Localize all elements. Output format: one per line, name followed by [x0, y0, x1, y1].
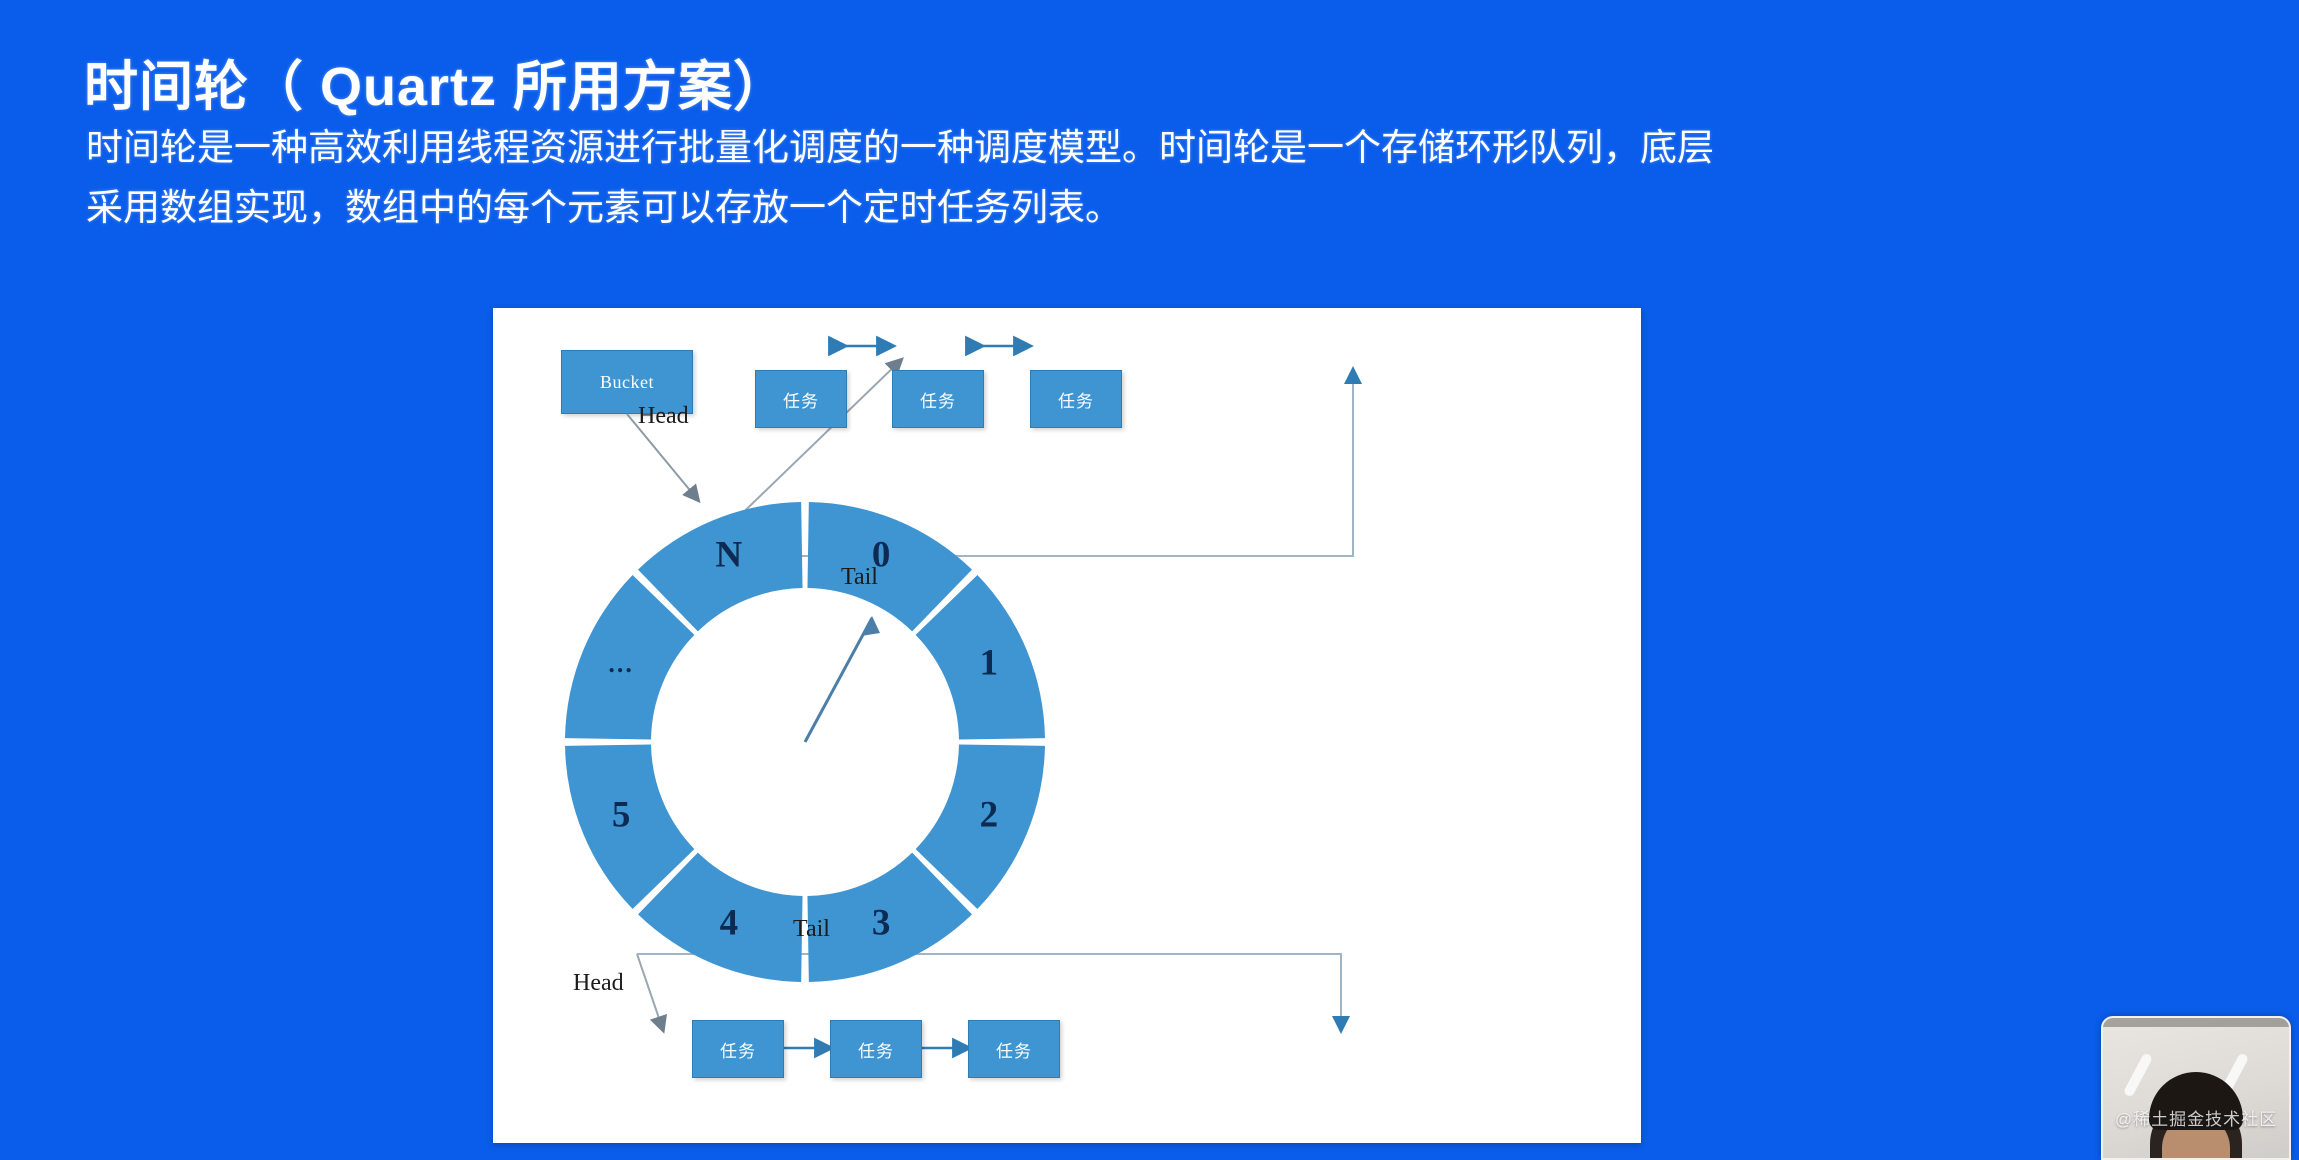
clock-hand [805, 618, 872, 742]
clock-hand-arrowhead [861, 616, 880, 636]
task-label: 任务 [783, 387, 819, 412]
top-task-box-1: 任务 [755, 370, 847, 428]
task-label: 任务 [996, 1037, 1032, 1062]
webcam-pip[interactable]: @稀土掘金技术社区 [2101, 1016, 2291, 1160]
webcam-glare-left-icon [2123, 1052, 2153, 1097]
paragraph-line-1: 时间轮是一种高效利用线程资源进行批量化调度的一种调度模型。时间轮是一个存储环形队… [86, 118, 2206, 178]
task-label: 任务 [920, 387, 956, 412]
ring-segment-label: 5 [612, 795, 631, 836]
top-head-label: Head [638, 403, 689, 430]
ring-segment-label: N [715, 535, 742, 576]
top-task-box-2: 任务 [892, 370, 984, 428]
top-tail-label: Tail [841, 564, 878, 591]
bottom-task-box-2: 任务 [830, 1020, 922, 1078]
watermark: @稀土掘金技术社区 [2103, 1105, 2289, 1130]
diagram-panel: Bucket [493, 308, 1641, 1143]
bottom-task-box-1: 任务 [692, 1020, 784, 1078]
presentation-slide: 时间轮（ Quartz 所用方案） 时间轮是一种高效利用线程资源进行批量化调度的… [0, 0, 2299, 1160]
bottom-tail-label: Tail [793, 916, 830, 943]
top-task-box-3: 任务 [1030, 370, 1122, 428]
ring-segment-label: 1 [980, 642, 999, 683]
webcam-top-strip [2103, 1018, 2289, 1027]
bottom-task-box-3: 任务 [968, 1020, 1060, 1078]
paragraph-line-2: 采用数组实现，数组中的每个元素可以存放一个定时任务列表。 [86, 178, 2206, 238]
ring-segment-label: 2 [980, 795, 999, 836]
ring-segment-label: 3 [872, 902, 891, 943]
task-label: 任务 [1058, 387, 1094, 412]
task-label: 任务 [720, 1037, 756, 1062]
bottom-head-label: Head [573, 970, 624, 997]
ring-segment-label: ... [608, 649, 634, 678]
ring-segment-label: 4 [720, 902, 739, 943]
body-paragraph: 时间轮是一种高效利用线程资源进行批量化调度的一种调度模型。时间轮是一个存储环形队… [86, 118, 2206, 238]
task-label: 任务 [858, 1037, 894, 1062]
page-title: 时间轮（ Quartz 所用方案） [84, 42, 788, 121]
